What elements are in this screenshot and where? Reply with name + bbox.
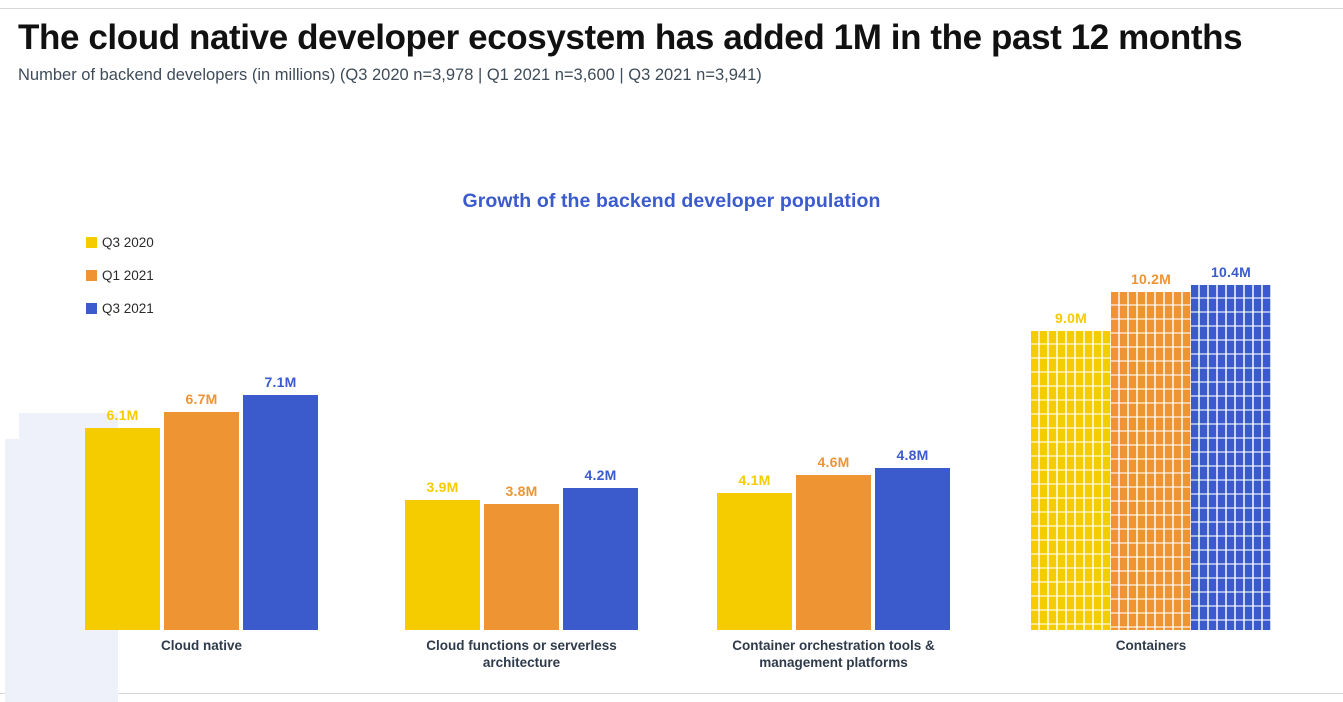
bar[interactable]: 3.8M xyxy=(484,504,559,630)
page-title: The cloud native developer ecosystem has… xyxy=(18,18,1318,59)
bar-value-label: 6.1M xyxy=(107,407,139,423)
bar-value-label: 6.7M xyxy=(186,391,218,407)
bar-value-label: 7.1M xyxy=(265,374,297,390)
bar-group: 4.1M4.6M4.8MContainer orchestration tool… xyxy=(717,230,950,630)
bar-slot: 4.6M xyxy=(796,230,871,630)
bar-group-bars: 4.1M4.6M4.8M xyxy=(717,230,950,630)
bar-slot: 6.1M xyxy=(85,230,160,630)
bar[interactable]: 9.0M xyxy=(1031,331,1111,630)
bar-group: 3.9M3.8M4.2MCloud functions or serverles… xyxy=(405,230,638,630)
bar-chart: Growth of the backend developer populati… xyxy=(0,160,1343,702)
category-axis-label: Cloud functions or serverless architectu… xyxy=(405,638,638,672)
bar-value-label: 4.1M xyxy=(739,472,771,488)
bar-value-label: 10.4M xyxy=(1211,264,1251,280)
bar[interactable]: 10.2M xyxy=(1111,292,1191,630)
slide-canvas: The cloud native developer ecosystem has… xyxy=(0,0,1343,702)
bar-value-label: 4.6M xyxy=(818,454,850,470)
bar[interactable]: 4.1M xyxy=(717,493,792,630)
bar-value-label: 10.2M xyxy=(1131,271,1171,287)
bar[interactable]: 10.4M xyxy=(1191,285,1271,630)
bar-slot: 9.0M xyxy=(1031,230,1111,630)
bar-slot: 4.8M xyxy=(875,230,950,630)
slide-top-rule xyxy=(0,8,1343,9)
slide-header: The cloud native developer ecosystem has… xyxy=(18,18,1318,86)
bar-value-label: 9.0M xyxy=(1055,310,1087,326)
bar[interactable]: 7.1M xyxy=(243,395,318,630)
bar-group-bars: 3.9M3.8M4.2M xyxy=(405,230,638,630)
bar-value-label: 4.8M xyxy=(897,447,929,463)
bar-slot: 3.8M xyxy=(484,230,559,630)
bar-value-label: 3.9M xyxy=(427,479,459,495)
bar-value-label: 3.8M xyxy=(506,483,538,499)
bar[interactable]: 3.9M xyxy=(405,500,480,630)
bar-slot: 4.1M xyxy=(717,230,792,630)
chart-plot-area: 6.1M6.7M7.1MCloud native3.9M3.8M4.2MClou… xyxy=(0,160,1343,702)
bar-group: 6.1M6.7M7.1MCloud native xyxy=(85,230,318,630)
bar-slot: 4.2M xyxy=(563,230,638,630)
category-axis-label: Cloud native xyxy=(85,638,318,655)
category-axis-label: Container orchestration tools & manageme… xyxy=(717,638,950,672)
bar[interactable]: 4.2M xyxy=(563,488,638,630)
bar[interactable]: 6.1M xyxy=(85,428,160,630)
page-subtitle: Number of backend developers (in million… xyxy=(18,65,1318,86)
bar-group-bars: 9.0M10.2M10.4M xyxy=(1031,230,1271,630)
bar-group: 9.0M10.2M10.4MContainers xyxy=(1031,230,1271,630)
bar-slot: 3.9M xyxy=(405,230,480,630)
category-axis-label: Containers xyxy=(1031,638,1271,655)
bar[interactable]: 4.8M xyxy=(875,468,950,630)
bar[interactable]: 6.7M xyxy=(164,412,239,630)
bar-group-bars: 6.1M6.7M7.1M xyxy=(85,230,318,630)
bar-slot: 7.1M xyxy=(243,230,318,630)
bar-slot: 10.2M xyxy=(1111,230,1191,630)
bar[interactable]: 4.6M xyxy=(796,475,871,630)
bar-value-label: 4.2M xyxy=(585,467,617,483)
bar-slot: 6.7M xyxy=(164,230,239,630)
bar-slot: 10.4M xyxy=(1191,230,1271,630)
